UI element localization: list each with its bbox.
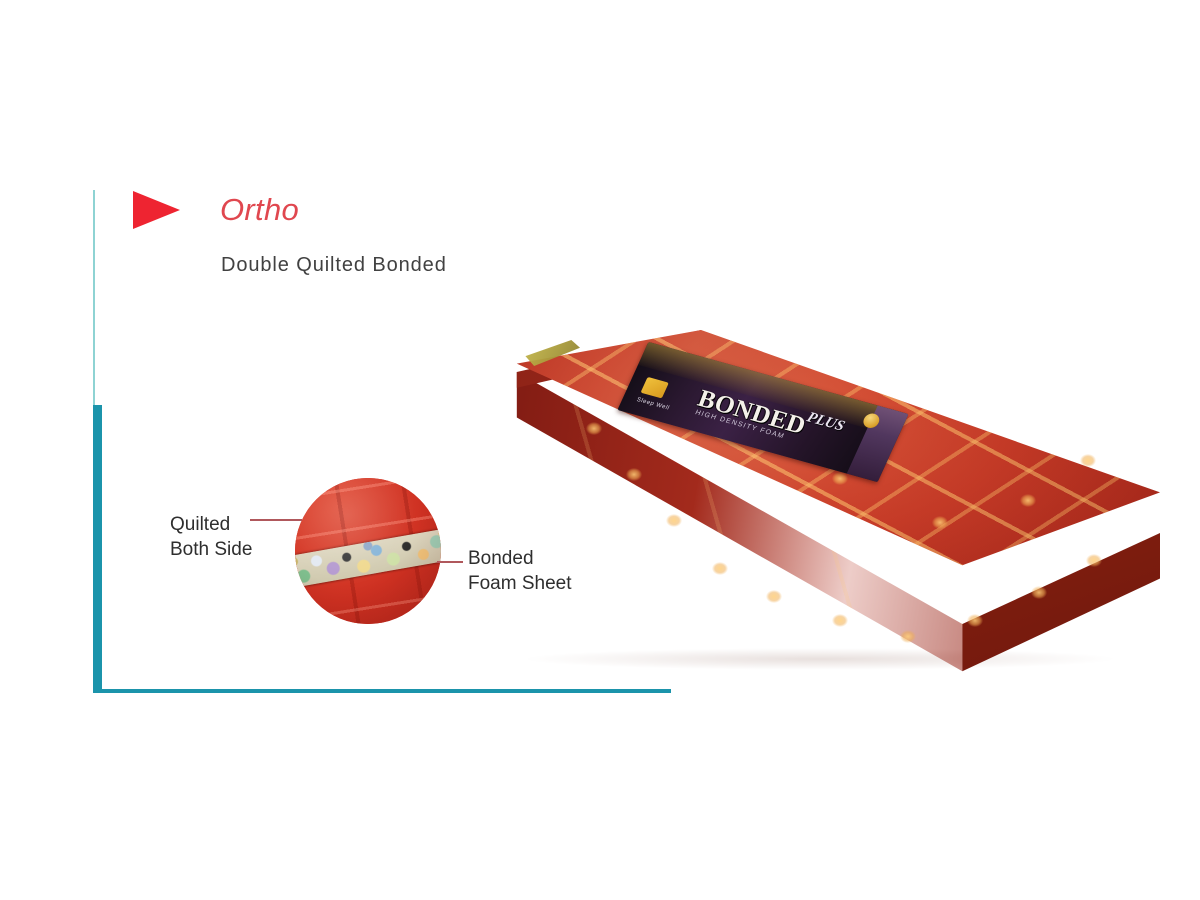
vertical-rule-dark <box>93 405 102 693</box>
leader-line-quilted <box>250 519 302 521</box>
brand-logo-icon <box>640 377 668 399</box>
callout-quilted-both-side: Quilted Both Side <box>170 512 252 562</box>
vertical-rule-light <box>93 190 95 405</box>
cutaway-detail-circle <box>295 478 441 624</box>
page-subtitle: Double Quilted Bonded <box>221 254 447 277</box>
circle-shading <box>295 478 441 624</box>
leader-line-bonded-foam <box>437 561 463 563</box>
label-brand-logo-text: Sleep Well <box>635 397 670 412</box>
horizontal-rule <box>93 689 671 693</box>
page-title: Ortho <box>220 192 299 228</box>
callout-quilted-line2: Both Side <box>170 537 252 562</box>
triangle-right-icon <box>133 191 180 229</box>
floral-motif-icon <box>666 514 682 527</box>
floral-motif-icon <box>832 614 848 627</box>
ortho-bonded-mattress-photo: Sleep Well BONDED HIGH DENSITY FOAM PLUS <box>480 318 1170 688</box>
callout-quilted-line1: Quilted <box>170 512 252 537</box>
floral-motif-icon <box>712 562 728 575</box>
page-root: Ortho Double Quilted Bonded Quilted Both… <box>0 0 1200 900</box>
floral-motif-icon <box>766 590 782 603</box>
mattress-body: Sleep Well BONDED HIGH DENSITY FOAM PLUS <box>480 318 1170 688</box>
